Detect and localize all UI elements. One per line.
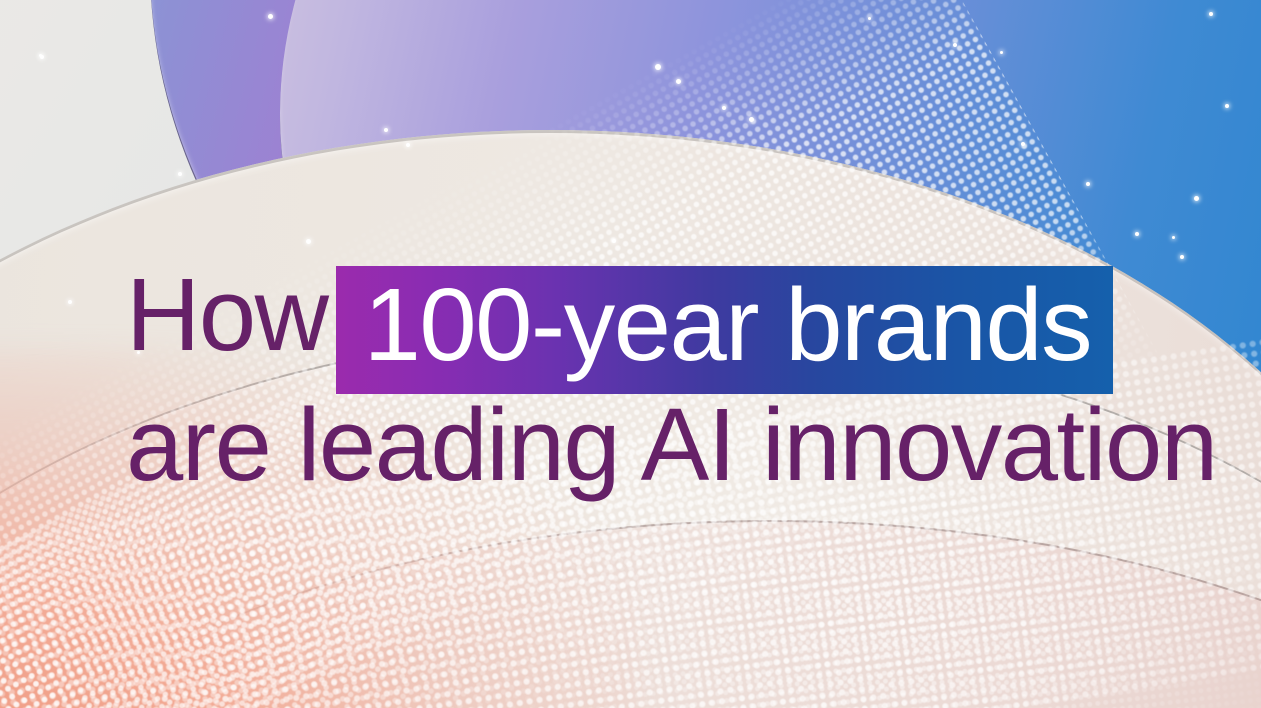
- sparkle-dot: [612, 239, 616, 243]
- headline-line-2: are leading AI innovation: [126, 384, 1206, 506]
- sparkle-dot: [1225, 104, 1229, 108]
- headline-block: How100-year brands are leading AI innova…: [126, 254, 1206, 506]
- sparkle-dot: [1194, 196, 1199, 201]
- sparkle-dot: [1135, 232, 1139, 236]
- sparkle-dot: [868, 17, 871, 20]
- sparkle-dot: [406, 143, 410, 147]
- sparkle-dot: [268, 14, 273, 19]
- sparkle-dot: [1000, 51, 1003, 54]
- sparkle-dot: [39, 54, 42, 57]
- sparkle-dot: [178, 172, 182, 176]
- headline-word-how: How: [126, 257, 328, 372]
- headline-highlight-band: 100-year brands: [336, 266, 1114, 394]
- sparkle-dot: [306, 239, 311, 244]
- hero-banner: How100-year brands are leading AI innova…: [0, 0, 1261, 708]
- sparkle-dot: [953, 43, 957, 47]
- sparkle-dot: [722, 106, 726, 110]
- sparkle-dot: [676, 79, 681, 84]
- sparkle-dot: [1172, 236, 1175, 239]
- headline-line-1: How100-year brands: [126, 254, 1206, 384]
- sparkle-dot: [1021, 142, 1025, 146]
- sparkle-dot: [384, 128, 388, 132]
- sparkle-dot: [655, 64, 661, 70]
- sparkle-dot: [68, 300, 72, 304]
- sparkle-dot: [749, 117, 754, 122]
- sparkle-dot: [1209, 12, 1213, 16]
- sparkle-dot: [1086, 182, 1090, 186]
